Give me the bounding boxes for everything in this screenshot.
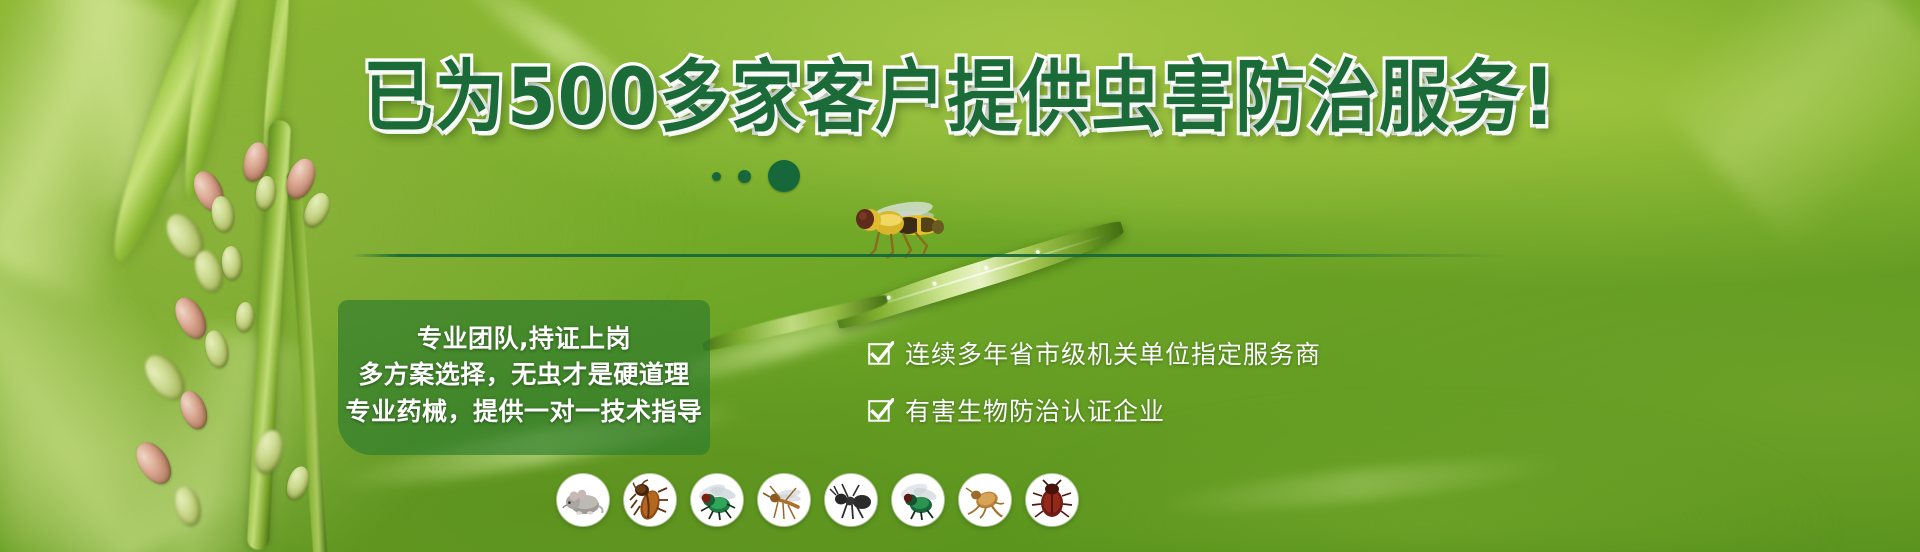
pest-icon-blowfly[interactable] bbox=[691, 474, 743, 526]
pest-icon-greenfly[interactable] bbox=[892, 474, 944, 526]
cockroach-icon bbox=[628, 478, 672, 522]
banner-headline: 已为500多家客户提供虫害防治服务! bbox=[0, 62, 1920, 132]
checklist-item: 连续多年省市级机关单位指定服务商 bbox=[868, 335, 1321, 371]
headline-text: 已为500多家客户提供虫害防治服务! bbox=[363, 58, 1557, 136]
ant-icon bbox=[829, 478, 873, 522]
pest-icon-mouse[interactable] bbox=[557, 474, 609, 526]
blowfly-icon bbox=[695, 478, 739, 522]
horizontal-divider bbox=[352, 254, 1512, 257]
bedbug-icon bbox=[1030, 478, 1074, 522]
pest-icon-mosquito[interactable] bbox=[758, 474, 810, 526]
pest-icon-ant[interactable] bbox=[825, 474, 877, 526]
pest-icon-flea[interactable] bbox=[959, 474, 1011, 526]
hoverfly-insect-photo bbox=[845, 198, 955, 260]
checkbox-checked-icon bbox=[868, 341, 894, 366]
feature-line-1: 专业团队,持证上岗 bbox=[417, 326, 631, 352]
pest-icon-cockroach[interactable] bbox=[624, 474, 676, 526]
feature-line-3: 专业药械，提供一对一技术指导 bbox=[346, 399, 703, 425]
decorative-dots bbox=[712, 160, 800, 192]
feature-line-2: 多方案选择，无虫才是硬道理 bbox=[358, 362, 690, 388]
flea-icon bbox=[963, 478, 1007, 522]
pest-type-icon-row bbox=[557, 474, 1078, 526]
credentials-checklist: 连续多年省市级机关单位指定服务商 有害生物防治认证企业 bbox=[868, 335, 1321, 428]
decor-dot-medium bbox=[738, 170, 751, 183]
checkbox-checked-icon bbox=[868, 398, 894, 423]
checklist-item-label: 连续多年省市级机关单位指定服务商 bbox=[905, 335, 1321, 371]
pest-control-hero-banner: 已为500多家客户提供虫害防治服务! 专业团队,持证上岗 多方案选择，无虫才是硬… bbox=[0, 0, 1920, 552]
greenfly-icon bbox=[896, 478, 940, 522]
feature-highlight-box: 专业团队,持证上岗 多方案选择，无虫才是硬道理 专业药械，提供一对一技术指导 bbox=[338, 300, 710, 455]
mosquito-icon bbox=[762, 478, 806, 522]
mouse-icon bbox=[561, 478, 605, 522]
decor-dot-large bbox=[768, 160, 800, 192]
checklist-item: 有害生物防治认证企业 bbox=[868, 392, 1321, 428]
checklist-item-label: 有害生物防治认证企业 bbox=[905, 392, 1165, 428]
decor-dot-small bbox=[712, 172, 721, 181]
pest-icon-bedbug[interactable] bbox=[1026, 474, 1078, 526]
